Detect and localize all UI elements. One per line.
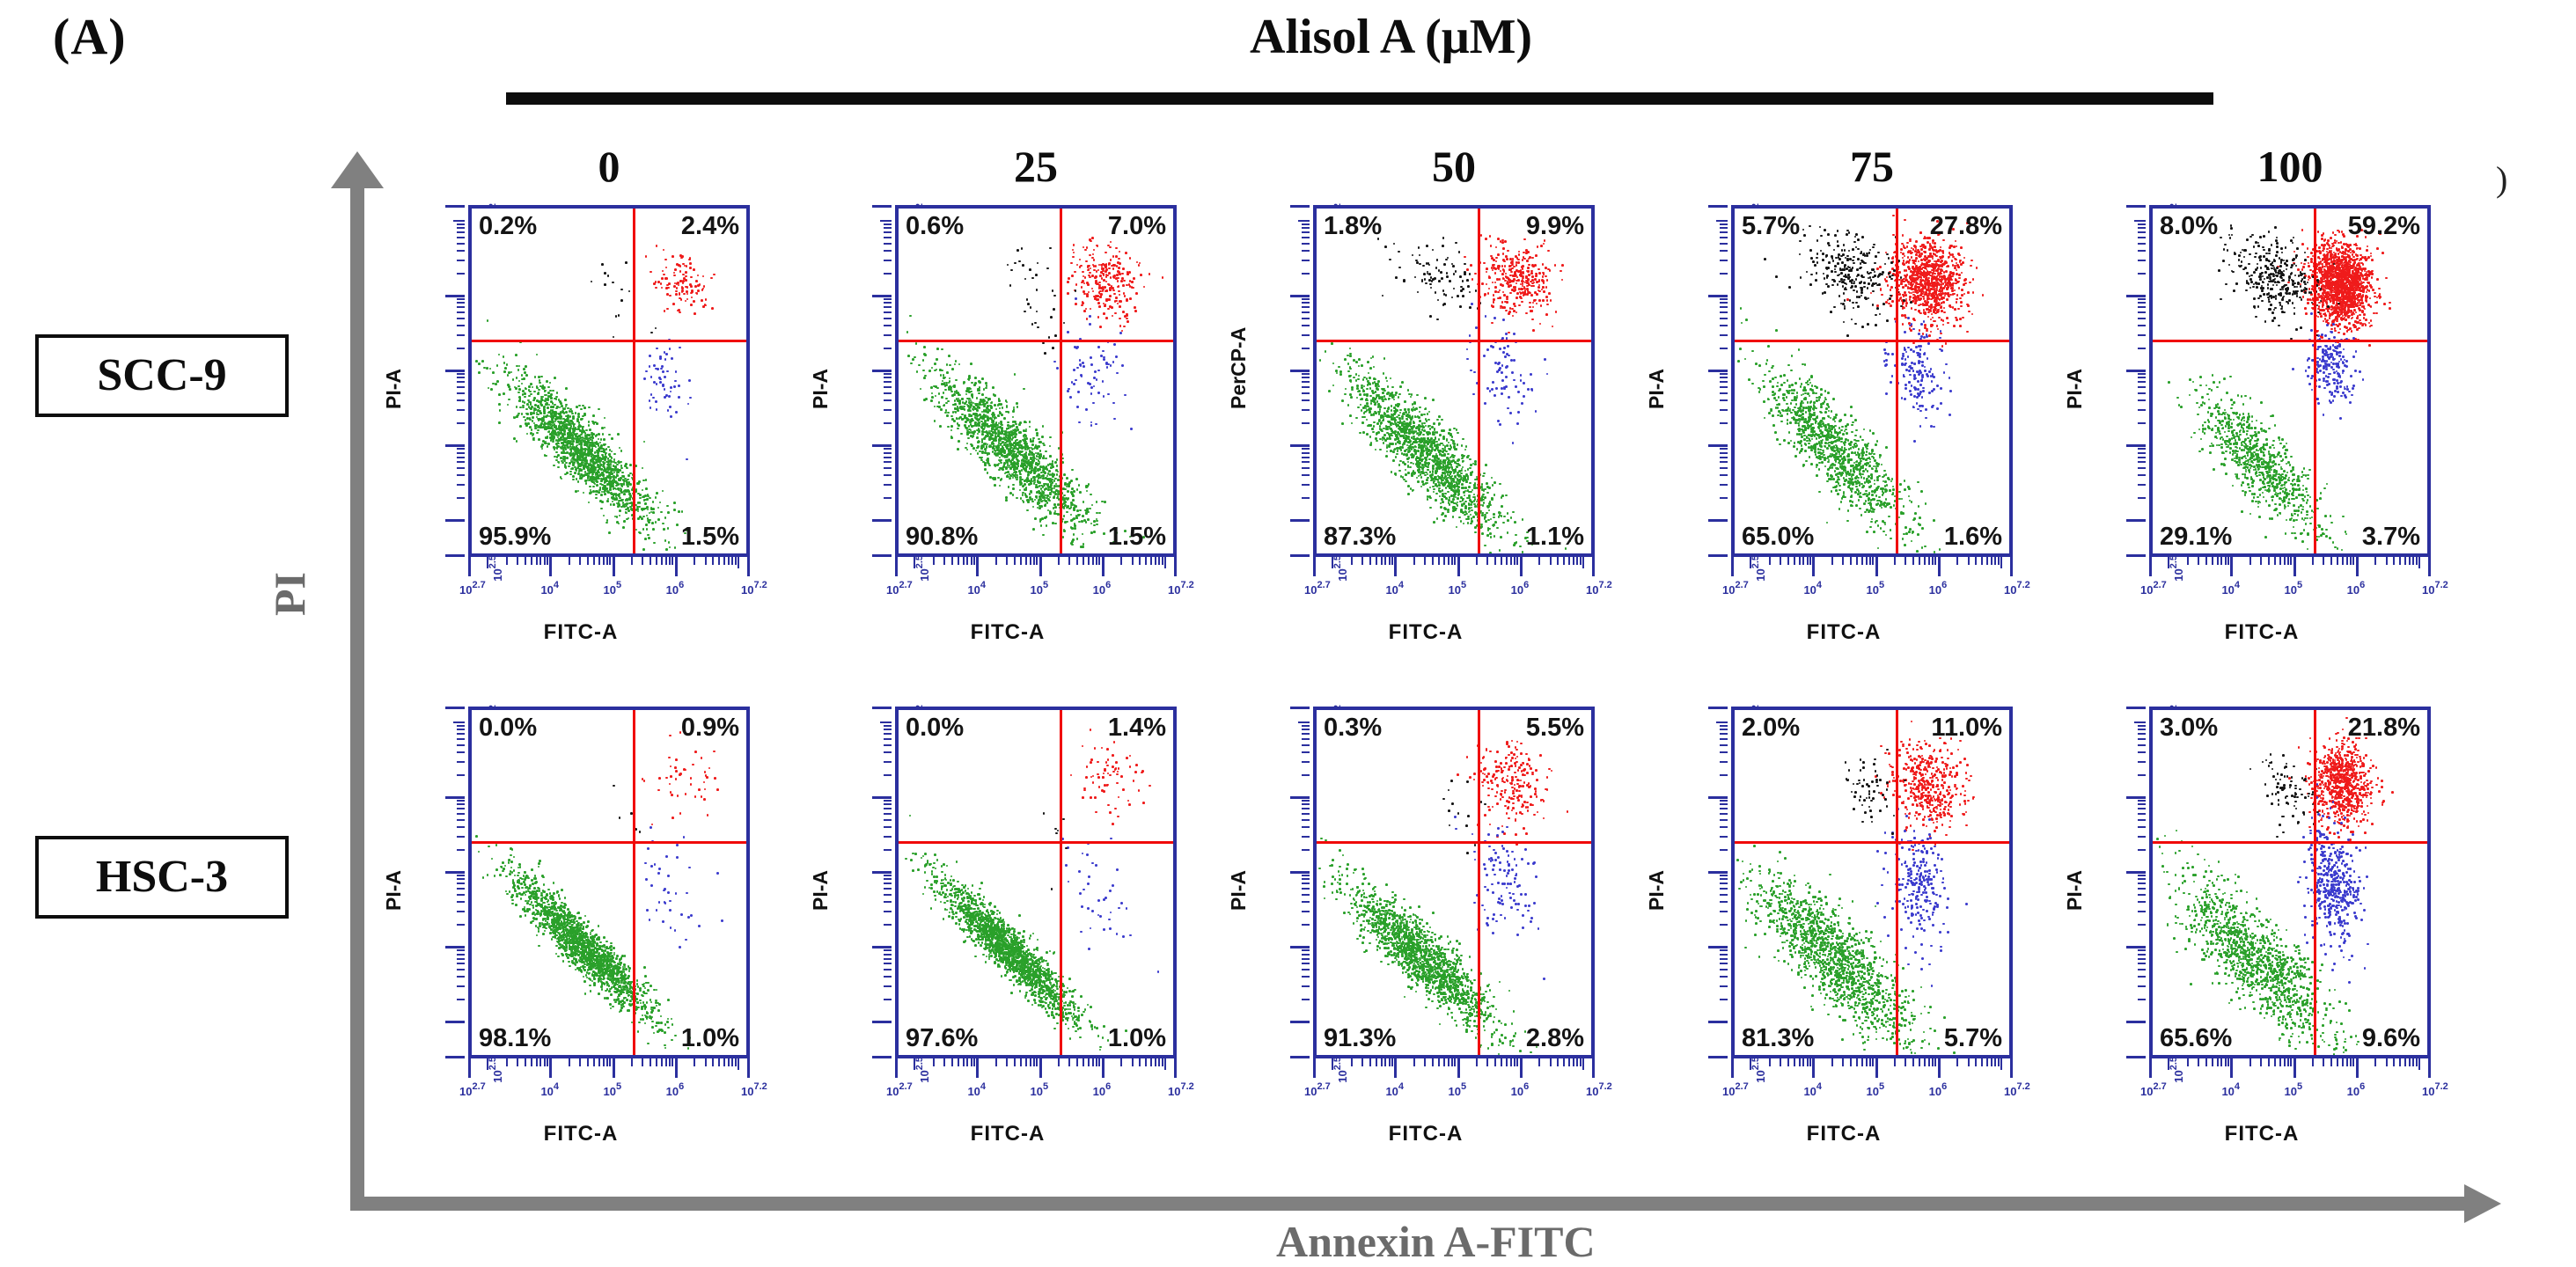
x-axis-tick [705,1058,707,1066]
x-axis-tick [694,557,695,565]
fc-panel-hsc-3-0: PI-A107.2106105104103102.50.0%0.9%98.1%1… [387,691,774,1166]
quadrant-horizontal-line [2153,340,2427,342]
quadrant-vertical-line [1478,209,1480,553]
x-axis-major-tick [976,1058,979,1078]
y-axis-tick [2138,386,2146,388]
x-tick-label: 107.2 [2004,580,2030,598]
x-axis-tick [1869,557,1871,565]
y-axis-tick [457,457,465,458]
x-axis-tick [579,557,581,565]
x-axis-tick [1809,1058,1811,1066]
quadrant-percent-lower-left: 81.3% [1742,1024,1814,1053]
y-axis-tick [2138,883,2146,884]
x-tick-label: 102.7 [1722,580,1749,598]
x-axis-tick [642,1058,643,1066]
x-axis-tick [1030,1058,1031,1066]
x-axis-tick [2393,1058,2395,1066]
x-tick-label: 102.7 [1304,580,1331,598]
y-axis-tick [2138,392,2146,394]
y-axis-tick [1302,392,1310,394]
y-axis-tick [884,901,892,903]
quadrant-horizontal-line [1317,340,1591,342]
y-axis-tick [1720,894,1728,896]
quadrant-horizontal-line [1735,841,2009,844]
x-axis-tick [2260,1058,2262,1066]
y-axis-tick [1720,392,1728,394]
x-axis-major-tick [2230,1058,2233,1078]
x-axis-tick [718,1058,720,1066]
x-axis-tick [1514,557,1516,565]
y-axis-tick [1720,448,1728,450]
y-axis-tick [457,985,465,987]
x-axis-tick [1438,557,1440,565]
x-axis-tick [2346,557,2348,565]
quadrant-percent-lower-right: 1.6% [1944,523,2002,552]
x-axis-tick [2187,1058,2189,1066]
fc-y-axis-label: PI-A [382,870,406,911]
y-axis-major-tick [1708,707,1728,709]
x-axis-tick [1866,557,1868,565]
y-axis-tick [457,497,465,499]
fc-panel-hsc-3-25: PI-A107.2106105104103102.50.0%1.4%97.6%1… [814,691,1201,1166]
x-axis-major-tick [1875,557,1878,576]
x-axis-tick [539,557,541,565]
x-axis-major-tick [2428,557,2431,576]
y-axis-major-tick [1708,295,1728,297]
x-axis-tick [2217,557,2219,565]
x-axis-tick [2399,1058,2401,1066]
y-axis-tick [453,721,465,723]
y-axis-tick [1302,738,1310,740]
y-axis-tick [1302,849,1310,851]
y-axis-tick [1302,461,1310,463]
x-axis-tick [1096,557,1097,565]
y-axis-tick [2138,260,2146,261]
x-axis-tick [517,557,518,565]
x-axis-tick [1510,1058,1512,1066]
quadrant-percent-upper-right: 21.8% [2348,714,2420,743]
x-axis-tick [1098,1058,1100,1066]
y-axis-tick [884,958,892,960]
y-axis-tick [2138,250,2146,252]
pi-axis-arrow-shaft [350,172,364,1211]
y-axis-tick [1302,800,1310,802]
y-axis-tick [1720,733,1728,735]
x-axis-tick [712,1058,714,1066]
y-axis-tick [1302,243,1310,245]
y-tick-label: 102.5 [914,555,933,582]
x-axis-tick [531,557,532,565]
annexin-axis-label: Annexin A-FITC [1276,1216,1596,1267]
x-axis-tick [2418,1058,2420,1070]
y-axis-tick [457,231,465,233]
x-axis-tick [951,557,953,565]
y-axis-tick [884,729,892,730]
y-axis-tick [1720,227,1728,229]
y-axis-tick [884,497,892,499]
y-axis-tick [1720,875,1728,876]
x-axis-tick [665,557,667,565]
x-tick-label: 107.2 [2004,1081,2030,1100]
fc-plot-area[interactable]: 0.0%1.4%97.6%1.0% [895,707,1177,1058]
y-axis-tick [1720,409,1728,411]
y-axis-tick [884,461,892,463]
y-axis-major-tick [872,871,892,874]
y-axis-tick [1302,409,1310,411]
x-axis-major-tick [468,1058,471,1078]
y-axis-tick [884,381,892,383]
y-axis-tick [884,373,892,375]
x-axis-tick [1443,557,1445,565]
y-axis-tick [1720,883,1728,884]
x-axis-tick [1162,1058,1163,1066]
fc-x-axis-label: FITC-A [387,620,774,645]
x-axis-tick [1981,557,1983,565]
y-axis-tick [457,377,465,378]
x-axis-tick [661,1058,663,1066]
x-axis-tick [2416,1058,2418,1066]
x-axis-tick [1083,557,1084,565]
y-axis-tick [884,985,892,987]
y-axis-tick [1720,311,1728,313]
y-axis-tick [1720,386,1728,388]
y-axis-tick [1720,849,1728,851]
x-axis-tick [1376,1058,1377,1066]
x-axis-tick [587,557,589,565]
y-axis-tick [884,924,892,926]
dose-label-50: 50 [1366,141,1542,192]
y-axis-tick [457,325,465,326]
y-axis-tick [457,386,465,388]
x-axis-major-tick [613,557,615,576]
y-axis-major-tick [2126,205,2146,208]
y-axis-tick [1302,348,1310,349]
fc-plot-area[interactable]: 0.3%5.5%91.3%2.8% [1313,707,1595,1058]
y-axis-tick [2138,334,2146,336]
x-axis-tick [1391,1058,1393,1066]
fc-plot-area[interactable]: 0.6%7.0%90.8%1.5% [895,205,1177,557]
y-axis-tick [2134,220,2146,222]
fc-plot-area[interactable]: 2.0%11.0%81.3%5.7% [1731,707,2013,1058]
y-axis-tick [1302,399,1310,401]
fc-x-axis-label: FITC-A [2068,620,2455,645]
y-axis-tick [457,467,465,469]
y-axis-tick [884,448,892,450]
x-axis-tick [2412,557,2414,565]
x-axis-tick [642,557,643,565]
y-axis-tick [1302,826,1310,828]
y-axis-tick [1720,497,1728,499]
x-axis-tick [1769,557,1771,565]
x-axis-tick [971,557,972,565]
x-axis-major-tick [549,557,552,576]
x-axis-tick [631,1058,633,1066]
y-axis-tick [2138,774,2146,776]
y-axis-tick [1720,800,1728,802]
fc-panel-scc-9-50: PerCP-A107.2106105104103102.51.8%9.9%87.… [1232,189,1619,664]
y-axis-tick [884,949,892,951]
x-axis-tick [1036,557,1038,565]
x-axis-tick [1494,557,1496,565]
x-axis-major-tick [1394,1058,1397,1078]
y-axis-tick [457,976,465,978]
y-axis-tick [457,298,465,300]
fc-x-axis-label: FITC-A [814,620,1201,645]
x-axis-tick [694,1058,695,1066]
y-axis-major-tick [445,205,465,208]
x-tick-label: 107.2 [1586,580,1612,598]
y-axis-tick [1720,484,1728,486]
x-axis-tick [1550,1058,1552,1066]
y-axis-tick [884,422,892,424]
x-axis-tick [1088,557,1090,565]
x-axis-tick [2404,1058,2406,1066]
x-axis-major-tick [895,557,898,576]
y-axis-major-tick [445,554,465,557]
x-axis-tick [1576,1058,1578,1066]
fc-plot-area[interactable]: 3.0%21.8%65.6%9.6% [2149,707,2431,1058]
y-axis-tick [884,298,892,300]
x-axis-tick [2000,557,2002,568]
x-axis-tick [1975,557,1977,565]
x-axis-tick [2249,557,2251,565]
y-axis-tick [1302,377,1310,378]
x-axis-tick [1582,1058,1584,1070]
x-axis-tick [672,557,673,565]
y-axis-major-tick [1290,519,1310,522]
y-axis-tick [1720,878,1728,880]
x-axis-tick [914,557,915,568]
x-axis-tick [1799,557,1801,565]
y-axis-tick [1302,373,1310,375]
x-axis-tick [1139,1058,1141,1066]
x-axis-tick [1361,557,1363,565]
x-axis-major-tick [1313,1058,1316,1078]
y-axis-tick [2138,306,2146,308]
x-axis-tick [1413,1058,1415,1066]
fc-plot-area[interactable]: 8.0%59.2%29.1%3.7% [2149,205,2431,557]
y-axis-tick [1302,883,1310,884]
x-axis-tick [2342,1058,2344,1066]
x-axis-tick [1856,1058,1858,1066]
x-tick-label: 104 [1803,1081,1822,1100]
y-axis-tick [457,949,465,951]
x-axis-tick [1058,557,1060,565]
y-axis-tick [884,260,892,261]
fc-plot-area[interactable]: 0.0%0.9%98.1%1.0% [468,707,750,1058]
x-axis-tick [1351,1058,1353,1066]
quadrant-percent-lower-right: 2.8% [1526,1024,1584,1053]
x-axis-tick [1861,557,1863,565]
x-axis-tick [1451,1058,1453,1066]
y-axis-tick [1302,497,1310,499]
quadrant-percent-upper-left: 0.2% [479,212,537,241]
x-axis-tick [2287,557,2289,565]
x-tick-label: 105 [1031,1081,1049,1100]
x-axis-tick [1020,1058,1022,1066]
x-axis-tick [728,1058,730,1066]
x-axis-tick [735,557,737,565]
x-axis-major-tick [1938,1058,1941,1078]
y-axis-tick [2138,949,2146,951]
y-axis-tick [1302,969,1310,970]
quadrant-percent-lower-left: 87.3% [1324,523,1396,552]
y-axis-tick [1302,751,1310,753]
x-axis-major-tick [1313,557,1316,576]
x-axis-tick [1956,557,1958,565]
y-axis-tick [457,751,465,753]
x-axis-tick [569,557,570,565]
y-axis-tick [1720,958,1728,960]
x-axis-tick [1986,557,1988,565]
y-axis-major-tick [1290,295,1310,297]
x-tick-label: 105 [604,1081,622,1100]
x-axis-tick [1361,1058,1363,1066]
y-axis-tick [1720,306,1728,308]
y-axis-tick [457,808,465,809]
quadrant-percent-lower-right: 5.7% [1944,1024,2002,1053]
y-axis-tick [457,924,465,926]
y-axis-tick [2138,223,2146,225]
fc-plot-area[interactable]: 0.2%2.4%95.9%1.5% [468,205,750,557]
y-axis-tick [457,888,465,890]
fc-plot-area[interactable]: 5.7%27.8%65.0%1.6% [1731,205,2013,557]
x-axis-tick [2284,1058,2286,1066]
quadrant-percent-lower-right: 1.1% [1526,523,1584,552]
x-axis-major-tick [1102,1058,1105,1078]
y-axis-tick [1302,911,1310,912]
y-axis-tick [1302,761,1310,763]
x-axis-tick [1391,557,1393,565]
y-axis-tick [884,800,892,802]
x-axis-tick [1332,557,1333,568]
x-axis-tick [1780,1058,1781,1066]
y-axis-tick [457,250,465,252]
x-axis-tick [1432,1058,1434,1066]
y-axis-tick [1302,888,1310,890]
fc-plot-area[interactable]: 1.8%9.9%87.3%1.1% [1313,205,1595,557]
x-axis-tick [1802,557,1804,565]
x-axis-tick [506,557,508,565]
y-axis-tick [2138,836,2146,838]
x-axis-tick [1145,557,1147,565]
y-axis-major-tick [445,1021,465,1023]
x-axis-major-tick [1174,1058,1177,1078]
x-axis-tick [669,1058,671,1066]
x-axis-tick [579,1058,581,1066]
y-axis-major-tick [1708,444,1728,447]
quadrant-percent-upper-left: 2.0% [1742,714,1800,743]
x-axis-tick [1850,1058,1852,1066]
cell-line-label-hsc-3: HSC-3 [35,836,289,919]
y-axis-tick [884,761,892,763]
x-tick-label: 105 [1449,1081,1467,1100]
x-axis-tick [1025,1058,1027,1066]
y-axis-tick [884,911,892,912]
x-axis-tick [1025,557,1027,565]
y-axis-tick [884,878,892,880]
y-axis-tick [1302,484,1310,486]
y-axis-tick [1720,813,1728,815]
x-axis-tick [1573,557,1574,565]
y-axis-tick [884,808,892,809]
x-tick-label: 102.7 [2140,1081,2167,1100]
x-axis-tick [2268,557,2270,565]
x-tick-label: 105 [1867,1081,1885,1100]
x-axis-tick [1145,1058,1147,1066]
y-axis-major-tick [445,295,465,297]
quadrant-percent-upper-right: 59.2% [2348,212,2420,241]
x-axis-tick [1924,1058,1926,1066]
x-axis-tick [1476,1058,1478,1066]
x-axis-tick [943,1058,945,1066]
x-axis-tick [1869,1058,1871,1066]
x-tick-label: 102.7 [459,1081,486,1100]
dose-title: Alisol A (μM) [1250,9,1532,65]
quadrant-horizontal-line [899,340,1173,342]
y-axis-tick [2138,819,2146,821]
x-axis-major-tick [1457,557,1460,576]
x-axis-tick [1986,1058,1988,1066]
x-axis-tick [1580,557,1582,565]
x-axis-tick [731,1058,733,1066]
y-axis-tick [884,467,892,469]
y-axis-tick [884,457,892,458]
quadrant-horizontal-line [472,841,746,844]
x-tick-label: 104 [1385,580,1404,598]
x-axis-tick [2217,1058,2219,1066]
quadrant-vertical-line [1060,710,1062,1055]
x-axis-tick [1802,1058,1804,1066]
x-axis-tick [1975,1058,1977,1066]
x-axis-tick [1924,557,1926,565]
quadrant-percent-lower-left: 65.6% [2160,1024,2232,1053]
quadrant-percent-lower-left: 29.1% [2160,523,2232,552]
dose-title-rule [506,92,2213,105]
y-axis-tick [1302,729,1310,730]
x-axis-tick [973,557,975,565]
dose-label-0: 0 [521,141,697,192]
x-axis-tick [1842,557,1844,565]
x-axis-tick [606,557,608,565]
x-axis-tick [2350,1058,2352,1066]
x-axis-tick [1794,557,1795,565]
y-axis-tick [457,800,465,802]
x-axis-tick [1956,1058,1958,1066]
x-axis-tick [2330,557,2332,565]
y-axis-tick [884,399,892,401]
x-axis-tick [2225,1058,2227,1066]
x-axis-major-tick [1731,1058,1734,1078]
y-axis-major-tick [1290,871,1310,874]
quadrant-percent-upper-left: 0.3% [1324,714,1382,743]
y-axis-tick [1720,457,1728,458]
x-axis-tick [487,1058,488,1070]
x-axis-tick [1807,1058,1809,1066]
y-axis-tick [1302,875,1310,876]
x-axis-tick [1158,1058,1160,1066]
x-axis-tick [1872,557,1874,565]
x-axis-tick [2220,557,2222,565]
y-axis-major-tick [1290,370,1310,372]
x-axis-tick [1369,557,1371,565]
x-axis-tick [2187,557,2189,565]
y-axis-tick [457,227,465,229]
x-axis-tick [1861,1058,1863,1066]
x-axis-major-tick [1938,557,1941,576]
y-axis-major-tick [445,871,465,874]
y-axis-tick [884,733,892,735]
